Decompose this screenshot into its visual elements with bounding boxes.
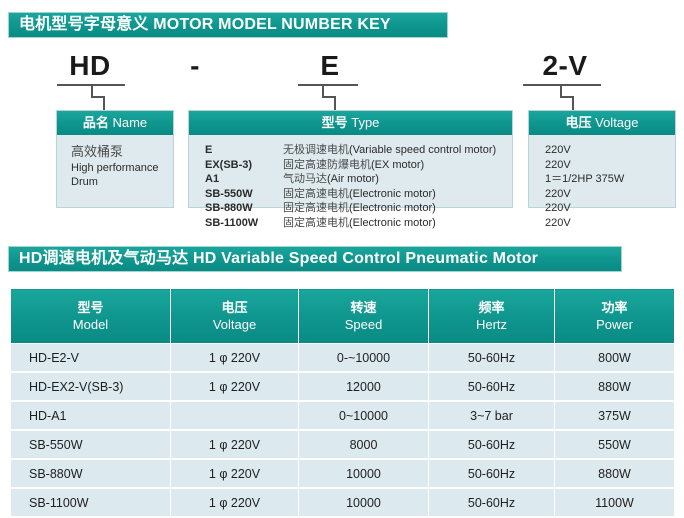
key-box-voltage-header-en: Voltage xyxy=(595,115,638,130)
section-title-hd-variable-speed: HD调速电机及气动马达 HD Variable Speed Control Pn… xyxy=(8,246,622,272)
spec-table-body: HD-E2-V1 φ 220V0-~1000050-60Hz800WHD-EX2… xyxy=(11,344,675,518)
section2-title-en: HD Variable Speed Control Pneumatic Moto… xyxy=(193,250,538,267)
spec-column-header-en: Power xyxy=(556,316,673,333)
spec-column-header-en: Speed xyxy=(300,316,427,333)
spec-column-header: 频率Hertz xyxy=(429,289,555,344)
type-row: SB-880W固定高速电机(Electronic motor) xyxy=(189,201,512,216)
spec-column-header-cn: 转速 xyxy=(300,299,427,316)
table-row: SB-1100W1 φ 220V1000050-60Hz1100W xyxy=(11,489,675,518)
connector-e-segment-3 xyxy=(334,96,336,110)
underline-e xyxy=(298,84,358,86)
spec-cell-model: SB-1100W xyxy=(11,489,171,518)
type-description: 固定高速电机(Electronic motor) xyxy=(283,201,436,216)
spec-table-header-row: 型号Model电压Voltage转速Speed频率Hertz功率Power xyxy=(11,289,675,344)
type-description-cn: 固定高速电机 xyxy=(283,217,349,229)
spec-cell-voltage xyxy=(171,402,299,431)
type-description: 固定高速电机(Electronic motor) xyxy=(283,187,436,202)
type-code: EX(SB-3) xyxy=(205,158,283,173)
spec-cell-power: 880W xyxy=(555,460,675,489)
type-row: E无极调速电机(Variable speed control motor) xyxy=(189,143,512,158)
model-letter-dash: - xyxy=(175,50,215,82)
spec-column-header-en: Model xyxy=(12,316,169,333)
connector-voltage-segment-2 xyxy=(560,96,572,98)
type-description-cn: 固定高速电机 xyxy=(283,188,349,200)
spec-cell-hertz: 50-60Hz xyxy=(429,489,555,518)
type-code: A1 xyxy=(205,172,283,187)
key-box-voltage-body: 220V220V1＝1/2HP 375W220V220V220V xyxy=(529,135,675,236)
name-value-en-2: Drum xyxy=(71,175,173,189)
type-description-en: (Electronic motor) xyxy=(349,202,436,214)
section-title-en: MOTOR MODEL NUMBER KEY xyxy=(153,16,391,33)
connector-voltage-segment-3 xyxy=(572,96,574,110)
table-row: HD-EX2-V(SB-3)1 φ 220V1200050-60Hz880W xyxy=(11,373,675,402)
type-description-en: (Electronic motor) xyxy=(349,217,436,229)
type-code: SB-1100W xyxy=(205,216,283,231)
spec-column-header: 电压Voltage xyxy=(171,289,299,344)
model-letter-hd: HD xyxy=(55,50,125,82)
spec-cell-model: HD-A1 xyxy=(11,402,171,431)
key-box-voltage-header-cn: 电压 xyxy=(565,115,591,130)
name-value-cn: 高效桶泵 xyxy=(71,143,173,161)
spec-cell-power: 550W xyxy=(555,431,675,460)
section-title-motor-model-key: 电机型号字母意义 MOTOR MODEL NUMBER KEY xyxy=(8,12,448,38)
connector-e-segment-1 xyxy=(322,84,324,96)
type-row: SB-1100W固定高速电机(Electronic motor) xyxy=(189,216,512,231)
voltage-row: 220V xyxy=(545,143,675,158)
type-description-en: (Air motor) xyxy=(327,173,379,185)
key-box-name: 品名 Name 高效桶泵 High performance Drum xyxy=(56,110,174,208)
key-box-type-header: 型号 Type xyxy=(189,111,512,135)
voltage-row: 220V xyxy=(545,201,675,216)
spec-column-header-en: Voltage xyxy=(172,316,297,333)
connector-hd-segment-3 xyxy=(103,96,105,110)
type-code: SB-550W xyxy=(205,187,283,202)
type-code: SB-880W xyxy=(205,201,283,216)
spec-cell-model: SB-550W xyxy=(11,431,171,460)
model-letter-2v: 2-V xyxy=(525,50,605,82)
type-description-en: (Electronic motor) xyxy=(349,188,436,200)
spec-cell-voltage: 1 φ 220V xyxy=(171,489,299,518)
table-row: HD-A10~100003~7 bar375W xyxy=(11,402,675,431)
connector-hd-segment-2 xyxy=(91,96,103,98)
spec-cell-voltage: 1 φ 220V xyxy=(171,373,299,402)
type-description-cn: 固定高速电机 xyxy=(283,202,349,214)
spec-cell-power: 1100W xyxy=(555,489,675,518)
table-row: HD-E2-V1 φ 220V0-~1000050-60Hz800W xyxy=(11,344,675,373)
model-letter-e: E xyxy=(300,50,360,82)
spec-column-header: 功率Power xyxy=(555,289,675,344)
key-box-name-header-cn: 品名 xyxy=(83,115,109,130)
spec-cell-power: 880W xyxy=(555,373,675,402)
type-row: A1气动马达(Air motor) xyxy=(189,172,512,187)
spec-cell-model: HD-EX2-V(SB-3) xyxy=(11,373,171,402)
key-box-voltage-header: 电压 Voltage xyxy=(529,111,675,135)
table-row: SB-550W1 φ 220V800050-60Hz550W xyxy=(11,431,675,460)
spec-cell-model: SB-880W xyxy=(11,460,171,489)
type-description-en: (Variable speed control motor) xyxy=(349,144,496,156)
spec-cell-hertz: 50-60Hz xyxy=(429,344,555,373)
spec-column-header-cn: 频率 xyxy=(430,299,553,316)
spec-cell-speed: 0~10000 xyxy=(299,402,429,431)
spec-cell-hertz: 3~7 bar xyxy=(429,402,555,431)
key-box-type: 型号 Type E无极调速电机(Variable speed control m… xyxy=(188,110,513,208)
spec-cell-hertz: 50-60Hz xyxy=(429,431,555,460)
spec-cell-voltage: 1 φ 220V xyxy=(171,431,299,460)
spec-cell-power: 800W xyxy=(555,344,675,373)
type-description: 气动马达(Air motor) xyxy=(283,172,379,187)
spec-column-header-en: Hertz xyxy=(430,316,553,333)
spec-cell-voltage: 1 φ 220V xyxy=(171,344,299,373)
type-description-cn: 无极调速电机 xyxy=(283,144,349,156)
spec-column-header: 型号Model xyxy=(11,289,171,344)
key-box-type-header-cn: 型号 xyxy=(322,115,348,130)
spec-cell-model: HD-E2-V xyxy=(11,344,171,373)
spec-cell-voltage: 1 φ 220V xyxy=(171,460,299,489)
spec-column-header: 转速Speed xyxy=(299,289,429,344)
underline-2v xyxy=(523,84,601,86)
type-description-en: (EX motor) xyxy=(371,159,424,171)
spec-cell-speed: 10000 xyxy=(299,460,429,489)
voltage-row: 220V xyxy=(545,216,675,231)
type-description-cn: 固定高速防爆电机 xyxy=(283,159,371,171)
type-row: SB-550W固定高速电机(Electronic motor) xyxy=(189,187,512,202)
name-value-en-1: High performance xyxy=(71,161,173,175)
type-description: 无极调速电机(Variable speed control motor) xyxy=(283,143,496,158)
connector-e-segment-2 xyxy=(322,96,334,98)
type-description: 固定高速电机(Electronic motor) xyxy=(283,216,436,231)
spec-cell-speed: 8000 xyxy=(299,431,429,460)
voltage-row: 1＝1/2HP 375W xyxy=(545,172,675,187)
spec-column-header-cn: 电压 xyxy=(172,299,297,316)
key-box-type-header-en: Type xyxy=(351,115,379,130)
voltage-row: 220V xyxy=(545,187,675,202)
spec-cell-hertz: 50-60Hz xyxy=(429,373,555,402)
spec-cell-speed: 10000 xyxy=(299,489,429,518)
connector-voltage-segment-1 xyxy=(560,84,562,96)
table-row: SB-880W1 φ 220V1000050-60Hz880W xyxy=(11,460,675,489)
spec-cell-hertz: 50-60Hz xyxy=(429,460,555,489)
type-row: EX(SB-3)固定高速防爆电机(EX motor) xyxy=(189,158,512,173)
key-box-voltage: 电压 Voltage 220V220V1＝1/2HP 375W220V220V2… xyxy=(528,110,676,208)
key-box-type-body: E无极调速电机(Variable speed control motor)EX(… xyxy=(189,135,512,236)
spec-column-header-cn: 型号 xyxy=(12,299,169,316)
section2-title-cn: HD调速电机及气动马达 xyxy=(19,250,188,267)
key-box-name-header-en: Name xyxy=(112,115,147,130)
key-box-name-body: 高效桶泵 High performance Drum xyxy=(57,135,173,195)
spec-cell-speed: 12000 xyxy=(299,373,429,402)
section-title-cn: 电机型号字母意义 xyxy=(19,16,149,33)
spec-cell-power: 375W xyxy=(555,402,675,431)
voltage-row: 220V xyxy=(545,158,675,173)
connector-hd-segment-1 xyxy=(91,84,93,96)
type-description-cn: 气动马达 xyxy=(283,173,327,185)
key-box-name-header: 品名 Name xyxy=(57,111,173,135)
spec-cell-speed: 0-~10000 xyxy=(299,344,429,373)
spec-column-header-cn: 功率 xyxy=(556,299,673,316)
type-description: 固定高速防爆电机(EX motor) xyxy=(283,158,424,173)
type-code: E xyxy=(205,143,283,158)
